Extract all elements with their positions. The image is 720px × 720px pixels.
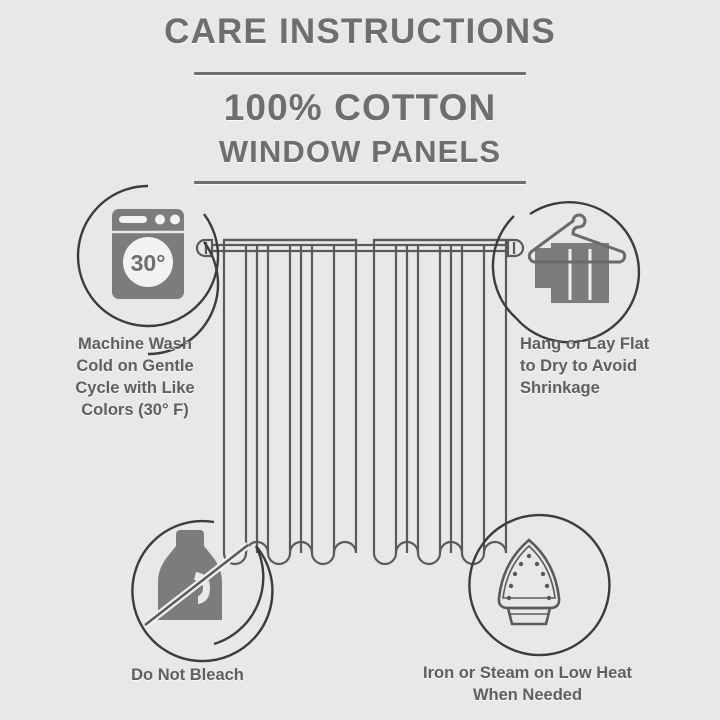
washing-machine-icon: 30° bbox=[78, 186, 218, 354]
caption-line: Do Not Bleach bbox=[80, 665, 295, 687]
caption-line: Colors (30° F) bbox=[40, 400, 230, 422]
caption-line: Cycle with Like bbox=[40, 378, 230, 400]
care-instructions-infographic: CARE INSTRUCTIONS 100% COTTON WINDOW PAN… bbox=[0, 0, 720, 720]
curtain-panels-illustration bbox=[197, 240, 523, 564]
no-bleach-icon bbox=[132, 521, 272, 661]
steam-holes bbox=[507, 554, 551, 600]
curtain-panel-left-pleats bbox=[246, 244, 334, 553]
caption-line: When Needed bbox=[395, 685, 660, 707]
caption-line: Iron or Steam on Low Heat bbox=[395, 663, 660, 685]
caption-line: Machine Wash bbox=[40, 334, 230, 356]
caption-line: Shrinkage bbox=[520, 378, 720, 400]
caption-line: Hang or Lay Flat bbox=[520, 334, 720, 356]
caption-line: to Dry to Avoid bbox=[520, 356, 720, 378]
caption-iron: Iron or Steam on Low Heat When Needed bbox=[395, 663, 660, 707]
curtain-rod-finial-right bbox=[508, 240, 523, 256]
caption-hang-dry: Hang or Lay Flat to Dry to Avoid Shrinka… bbox=[520, 334, 720, 400]
caption-do-not-bleach: Do Not Bleach bbox=[80, 665, 295, 687]
wash-temperature-label: 30° bbox=[131, 250, 166, 276]
caption-line: Cold on Gentle bbox=[40, 356, 230, 378]
iron-icon bbox=[469, 515, 609, 655]
hanger-icon bbox=[493, 202, 639, 342]
caption-machine-wash: Machine Wash Cold on Gentle Cycle with L… bbox=[40, 334, 230, 422]
curtain-panel-right-pleats bbox=[396, 244, 484, 553]
